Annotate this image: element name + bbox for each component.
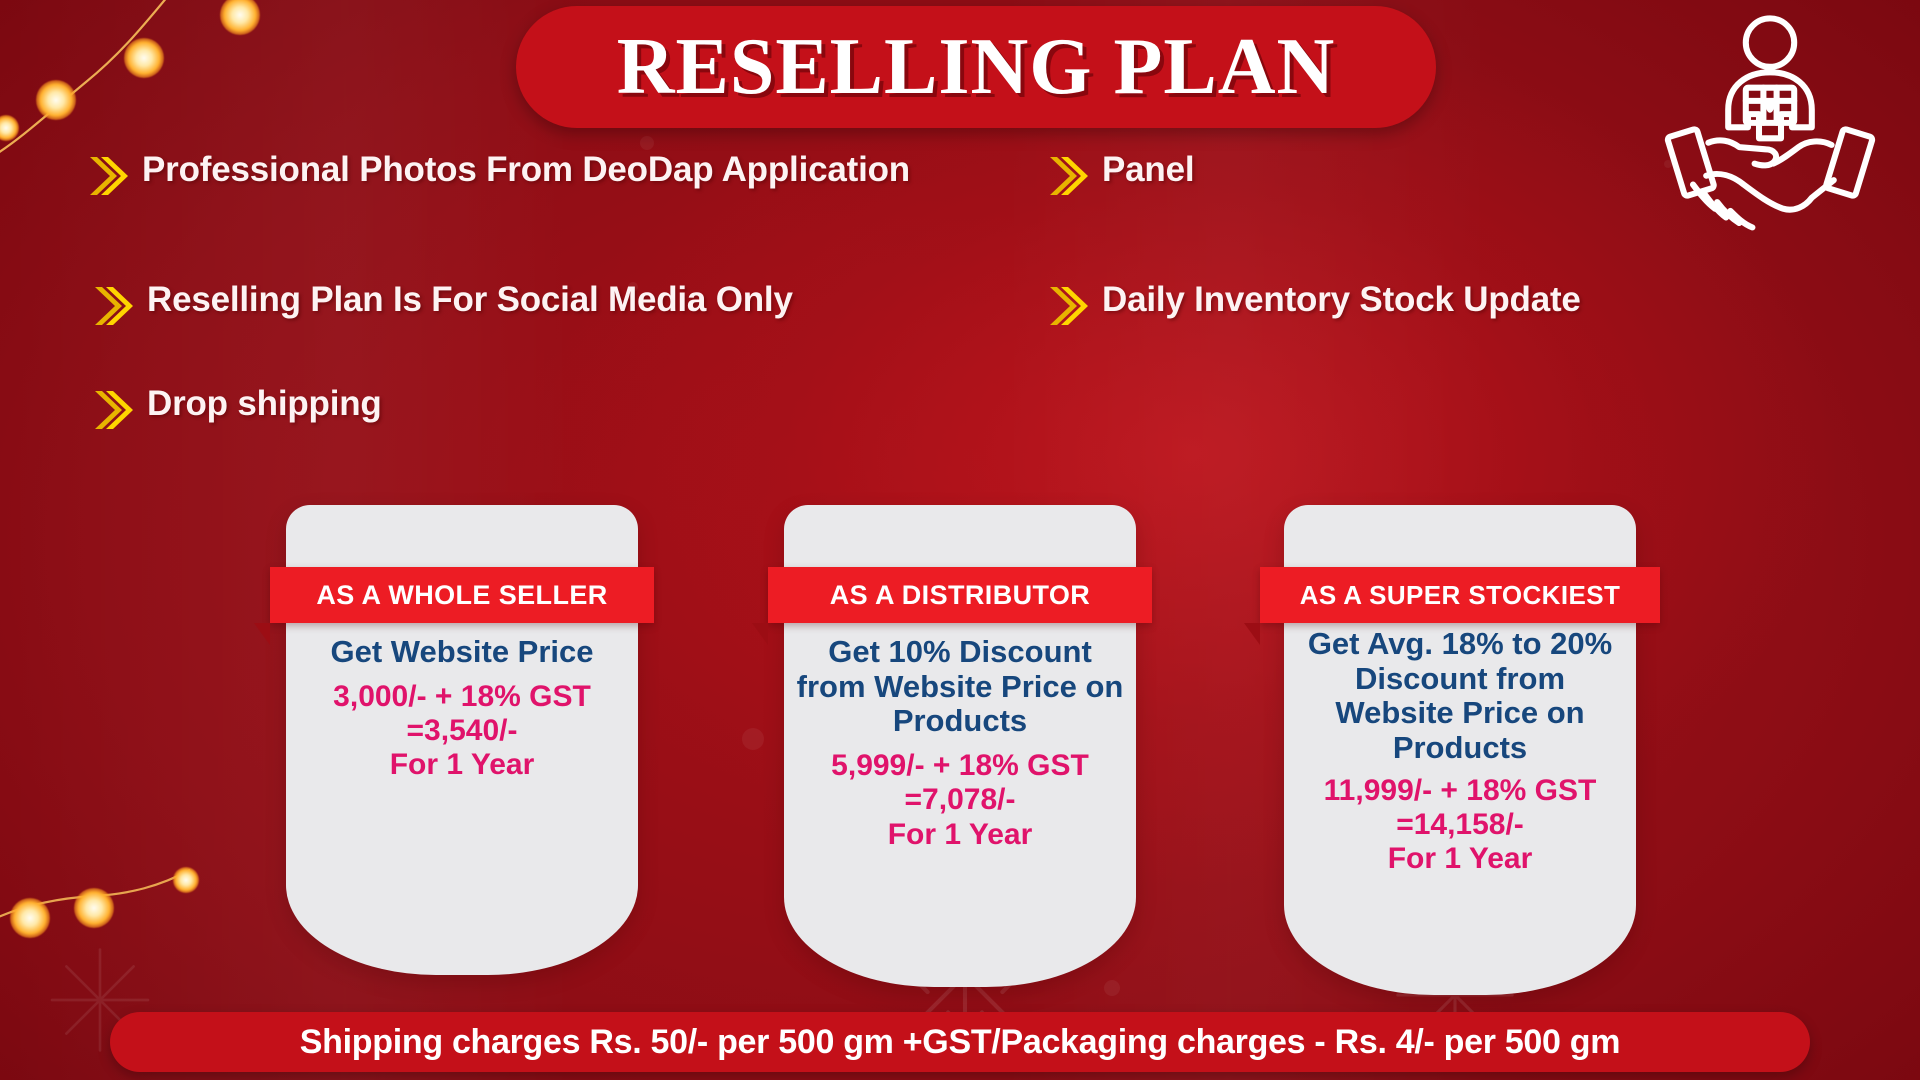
handshake-deal-icon [1660,4,1880,244]
page-title: RESELLING PLAN [617,27,1336,107]
plan-card-row: AS A WHOLE SELLER Get Website Price 3,00… [0,495,1920,995]
plan-heading: Get 10% Discount from Website Price on P… [784,635,1136,739]
title-banner: RESELLING PLAN [516,6,1436,128]
plan-card-body: AS A DISTRIBUTOR Get 10% Discount from W… [784,505,1136,987]
double-chevron-right-icon [93,284,135,328]
plan-ribbon: AS A WHOLE SELLER [270,567,654,623]
double-chevron-right-icon [1048,154,1090,198]
plan-price-line: 3,000/- + 18% GST [286,680,638,714]
poster-canvas: RESELLING PLAN [0,0,1920,1080]
plan-heading: Get Avg. 18% to 20% Discount from Websit… [1284,627,1636,766]
plan-ribbon: AS A SUPER STOCKIEST [1260,567,1660,623]
plan-price-line: For 1 Year [784,818,1136,852]
plan-ribbon: AS A DISTRIBUTOR [768,567,1152,623]
plan-ribbon-label: AS A WHOLE SELLER [316,580,607,611]
double-chevron-right-icon [88,154,130,198]
double-chevron-right-icon [93,388,135,432]
plan-card-super-stockiest[interactable]: AS A SUPER STOCKIEST Get Avg. 18% to 20%… [1284,505,1636,995]
footer-banner: Shipping charges Rs. 50/- per 500 gm +GS… [110,1012,1810,1072]
plan-card-distributor[interactable]: AS A DISTRIBUTOR Get 10% Discount from W… [784,505,1136,987]
plan-price-line: =3,540/- [286,714,638,748]
feature-item: Drop shipping [93,384,653,432]
light-bulb [220,0,260,35]
footer-note: Shipping charges Rs. 50/- per 500 gm +GS… [300,1023,1620,1062]
bokeh-dot [640,136,654,150]
plan-ribbon-label: AS A SUPER STOCKIEST [1300,580,1621,611]
light-bulb [36,80,76,120]
plan-price-line: 11,999/- + 18% GST [1284,774,1636,808]
light-bulb [124,38,164,78]
feature-item: Daily Inventory Stock Update [1048,280,1748,328]
feature-item: Reselling Plan Is For Social Media Only [93,280,973,328]
feature-label: Professional Photos From DeoDap Applicat… [142,150,910,189]
light-bulb [0,115,19,141]
plan-price-line: For 1 Year [286,748,638,782]
double-chevron-right-icon [1048,284,1090,328]
plan-price-line: For 1 Year [1284,842,1636,876]
plan-card-whole-seller[interactable]: AS A WHOLE SELLER Get Website Price 3,00… [286,505,638,975]
plan-price-line: 5,999/- + 18% GST [784,749,1136,783]
feature-label: Drop shipping [147,384,382,423]
plan-card-body: AS A SUPER STOCKIEST Get Avg. 18% to 20%… [1284,505,1636,995]
ribbon-fold [752,623,768,645]
ribbon-fold [254,623,270,645]
plan-price-line: =14,158/- [1284,808,1636,842]
feature-label: Panel [1102,150,1194,189]
plan-ribbon-label: AS A DISTRIBUTOR [830,580,1090,611]
plan-price-line: =7,078/- [784,783,1136,817]
feature-item: Panel [1048,150,1448,198]
plan-card-body: AS A WHOLE SELLER Get Website Price 3,00… [286,505,638,975]
ribbon-fold [1244,623,1260,645]
feature-label: Reselling Plan Is For Social Media Only [147,280,793,319]
feature-item: Professional Photos From DeoDap Applicat… [88,150,918,198]
plan-heading: Get Website Price [286,635,638,670]
feature-label: Daily Inventory Stock Update [1102,280,1581,319]
